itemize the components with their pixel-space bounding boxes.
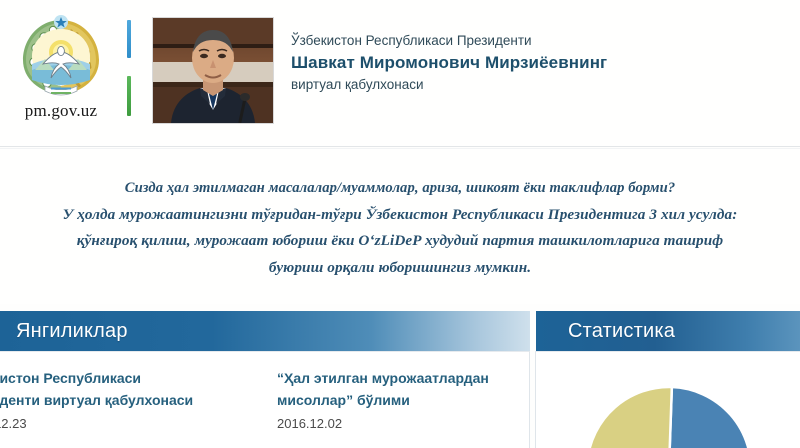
emblem-caption: pm.gov.uz — [8, 101, 114, 121]
header-title-name: Шавкат Миромонович Мирзиёевнинг — [291, 50, 771, 75]
intro-message-text: Сизда ҳал этилмаган масалалар/муаммолар,… — [20, 175, 780, 281]
news-list-item[interactable]: “Ҳал этилган мурожаатлардан мисоллар” бў… — [277, 367, 527, 431]
statistics-pie-chart[interactable] — [584, 384, 754, 448]
header-subtitle-bottom: виртуал қабулхонаси — [291, 75, 771, 95]
intro-message-line-3: қўнғироқ қилиш, мурожаат юбориш ёки O‘zL… — [20, 228, 780, 255]
news-item-title-line-1: “Ҳал этилган мурожаатлардан — [277, 367, 527, 389]
intro-message-section: Сизда ҳал этилмаган масалалар/муаммолар,… — [0, 149, 800, 304]
statistics-panel-body — [535, 351, 800, 448]
news-item-title-line-2: езиденти виртуал қабулхонаси — [0, 389, 226, 411]
divider-bar-green — [127, 76, 131, 116]
news-item-title-line-1: бекистон Республикаси — [0, 367, 226, 389]
statistics-panel-title: Статистика — [568, 320, 675, 343]
news-list-item[interactable]: бекистон Республикаси езиденти виртуал қ… — [0, 367, 226, 431]
president-portrait-photo — [152, 17, 274, 124]
news-panel-body: бекистон Республикаси езиденти виртуал қ… — [0, 351, 530, 448]
pie-slice[interactable] — [587, 387, 672, 448]
news-panel: Янгиликлар бекистон Республикаси езидент… — [0, 311, 530, 448]
header-divider — [0, 146, 800, 147]
news-item-title[interactable]: бекистон Республикаси езиденти виртуал қ… — [0, 367, 226, 411]
news-item-title[interactable]: “Ҳал этилган мурожаатлардан мисоллар” бў… — [277, 367, 527, 411]
statistics-panel: Статистика — [536, 311, 800, 448]
news-panel-title: Янгиликлар — [16, 320, 128, 343]
uzbekistan-coat-of-arms-icon — [15, 12, 107, 100]
news-panel-header: Янгиликлар — [0, 311, 530, 351]
news-item-title-line-2: мисоллар” бўлими — [277, 389, 527, 411]
bottom-panels: Янгиликлар бекистон Республикаси езидент… — [0, 311, 800, 448]
emblem-block[interactable]: pm.gov.uz — [8, 12, 114, 121]
intro-message-line-2: У ҳолда мурожаатингизни тўғридан-тўғри Ў… — [20, 202, 780, 229]
divider-bar-blue — [127, 20, 131, 58]
news-item-date: 2016.12.02 — [277, 416, 527, 431]
site-header: pm.gov.uz — [0, 0, 800, 147]
intro-message-line-1: Сизда ҳал этилмаган масалалар/муаммолар,… — [20, 175, 780, 202]
header-subtitle-top: Ўзбекистон Республикаси Президенти — [291, 31, 771, 50]
intro-message-line-4: буюриш орқали юборишингиз мумкин. — [20, 255, 780, 282]
header-text-block: Ўзбекистон Республикаси Президенти Шавка… — [291, 31, 771, 95]
page-root: pm.gov.uz — [0, 0, 800, 448]
statistics-panel-header: Статистика — [536, 311, 800, 351]
news-item-date: 16.12.23 — [0, 416, 226, 431]
